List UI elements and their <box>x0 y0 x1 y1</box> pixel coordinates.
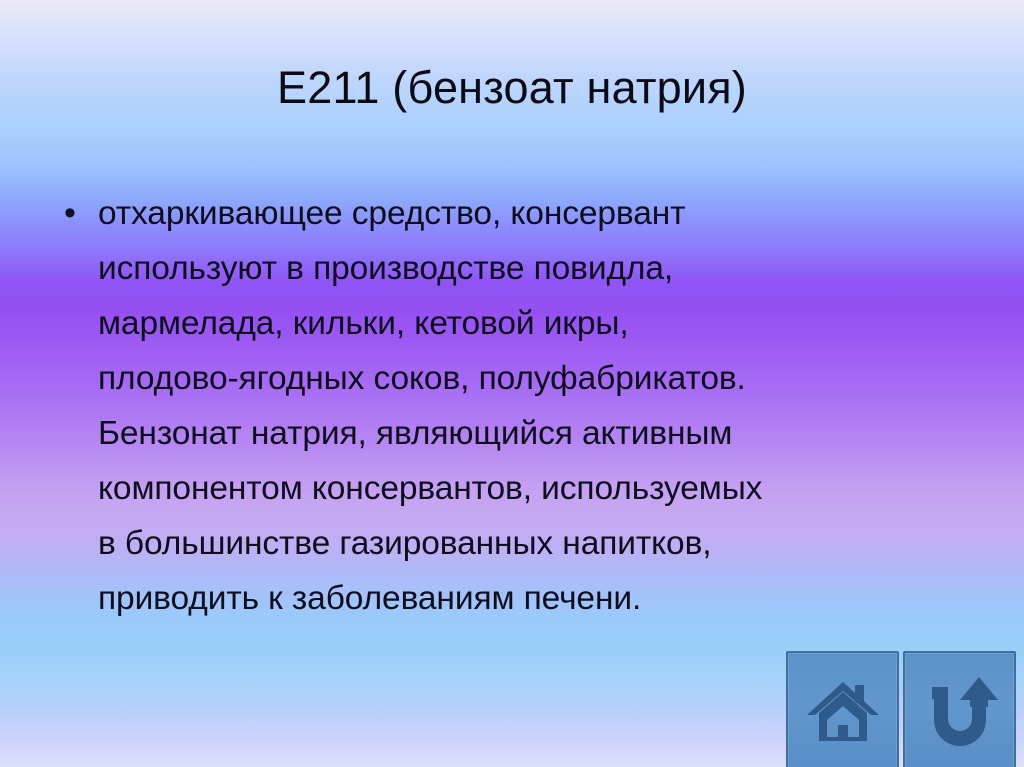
return-button[interactable] <box>903 651 1016 767</box>
home-icon <box>805 673 881 749</box>
body-line: плодово-ягодных соков, полуфабрикатов. <box>98 351 978 406</box>
return-arrow-icon <box>922 673 998 749</box>
body-line: в большинстве газированных напитков, <box>98 516 978 571</box>
bullet-list-item: • отхаркивающее средство, консервант исп… <box>58 186 978 626</box>
body-line: мармелада, кильки, кетовой икры, <box>98 296 978 351</box>
presentation-slide: E211 (бензоат натрия) • отхаркивающее ср… <box>0 0 1024 767</box>
navigation-buttons <box>786 651 1020 767</box>
home-button[interactable] <box>786 651 899 767</box>
slide-title: E211 (бензоат натрия) <box>60 62 964 114</box>
body-line: компонентом консервантов, используемых <box>98 461 978 516</box>
body-line: отхаркивающее средство, консервант <box>98 186 978 241</box>
slide-body: • отхаркивающее средство, консервант исп… <box>58 186 978 626</box>
bullet-item-text: отхаркивающее средство, консервант испол… <box>98 186 978 626</box>
bullet-point-icon: • <box>58 186 98 241</box>
body-line: используют в производстве повидла, <box>98 241 978 296</box>
body-line: Бензонат натрия, являющийся активным <box>98 406 978 461</box>
body-line: приводить к заболеваниям печени. <box>98 571 978 626</box>
